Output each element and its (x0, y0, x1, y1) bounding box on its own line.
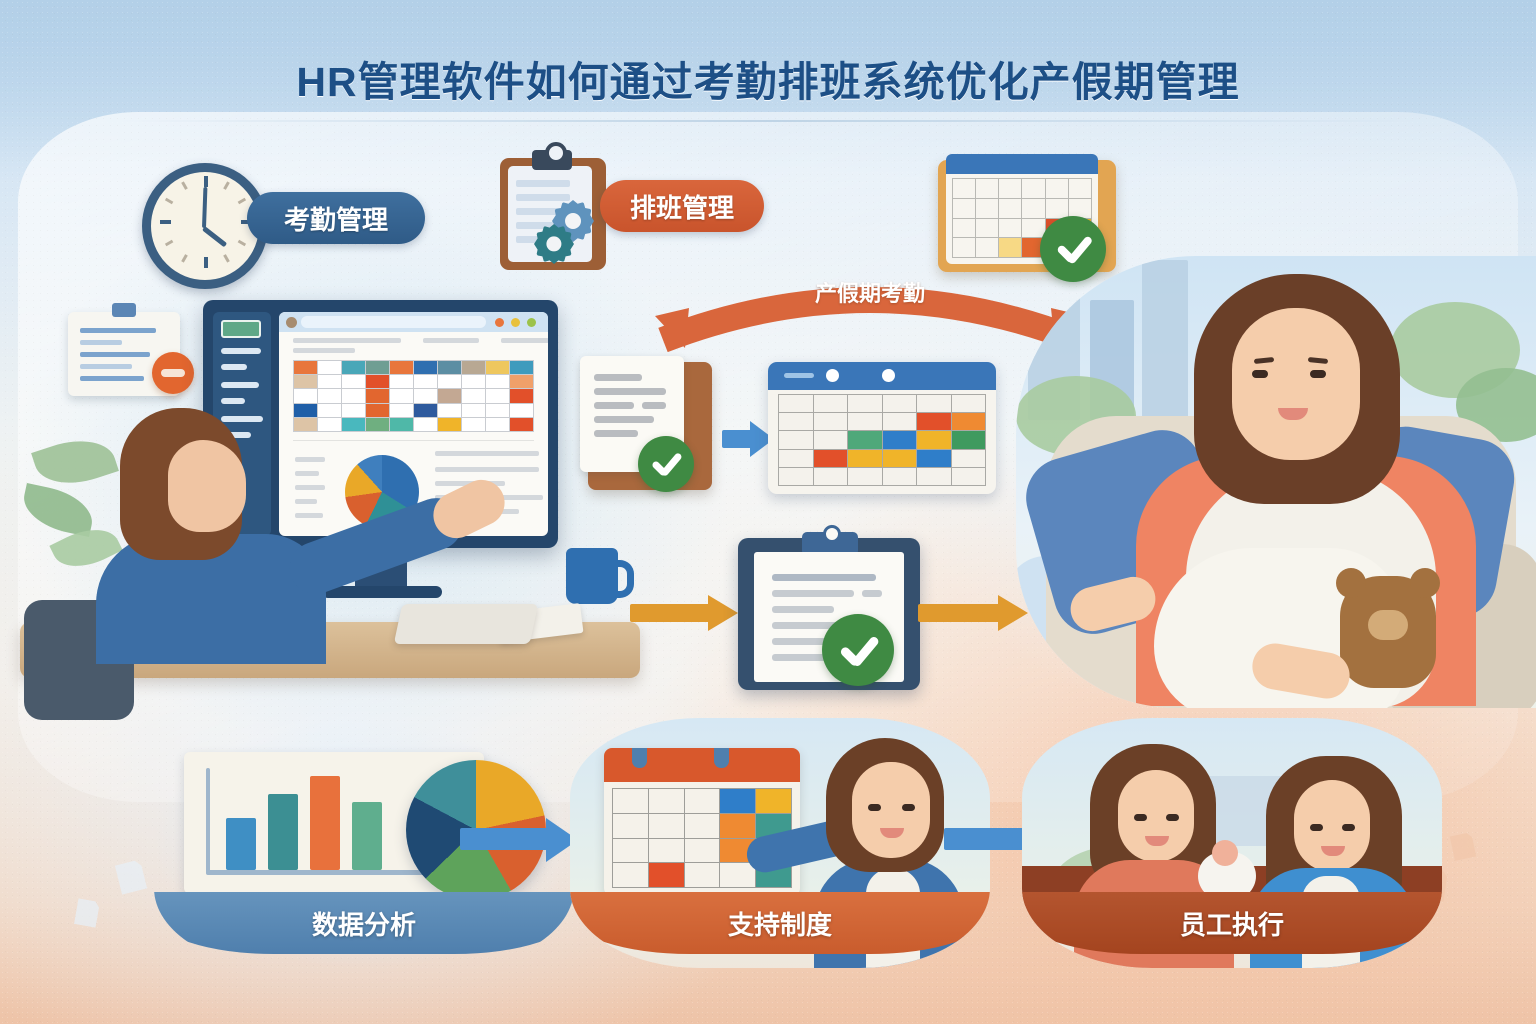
infographic-canvas: HR管理软件如何通过考勤排班系统优化产假期管理 考勤管理 排班管理 (0, 0, 1536, 1024)
check-circle-icon (822, 614, 894, 686)
clipboard-gears-icon (500, 158, 606, 270)
dashboard-header-lines (293, 338, 534, 356)
presenter-face (852, 762, 930, 858)
flow-label-banner: 支持制度 (570, 892, 990, 954)
bar-1 (226, 818, 256, 870)
flow-label-banner: 员工执行 (1022, 892, 1442, 954)
dashboard-screen (279, 312, 548, 536)
flow-label-banner: 数据分析 (154, 892, 574, 954)
maternity-scene (1016, 256, 1536, 708)
badge-attendance-management[interactable]: 考勤管理 (247, 192, 425, 244)
profile-dot (286, 317, 297, 328)
badge-label: 排班管理 (630, 188, 734, 225)
hr-staff-face (168, 440, 246, 532)
colleague-face (1294, 780, 1370, 872)
calendar-icon (768, 362, 996, 494)
hr-dashboard-monitor (203, 300, 558, 548)
browser-toolbar (279, 312, 548, 332)
bar-3 (310, 776, 340, 870)
flow-card-employee-execution[interactable]: 员工执行 (1022, 718, 1442, 968)
bar-2 (268, 794, 298, 870)
bar-4 (352, 802, 382, 870)
chart-panel (184, 752, 484, 894)
flow-label: 支持制度 (728, 905, 832, 942)
badge-shift-scheduling[interactable]: 排班管理 (600, 180, 764, 232)
page-title: HR管理软件如何通过考勤排班系统优化产假期管理 (0, 48, 1536, 108)
shift-schedule-grid[interactable] (293, 360, 534, 432)
badge-label: 考勤管理 (284, 200, 388, 237)
maternity-face (1232, 308, 1360, 460)
monitor-base (322, 586, 442, 598)
flow-card-support-policy[interactable]: 支持制度 (570, 718, 990, 968)
calendar-icon (604, 748, 800, 896)
address-bar[interactable] (301, 316, 486, 328)
flow-label: 员工执行 (1180, 905, 1284, 942)
check-circle-icon (638, 436, 694, 492)
keyboard (394, 604, 539, 644)
window-dot-min[interactable] (511, 318, 520, 327)
curved-arrow-label: 产假期考勤 (655, 276, 1085, 308)
calendar-grid[interactable] (778, 394, 986, 486)
window-dot-close[interactable] (495, 318, 504, 327)
teddy-bear-icon (1340, 576, 1436, 688)
sidebar-logo (221, 320, 261, 338)
coffee-mug (566, 548, 618, 604)
window-dot-max[interactable] (527, 318, 536, 327)
alert-badge-icon (152, 352, 194, 394)
mother-face (1118, 770, 1194, 862)
flow-label: 数据分析 (312, 905, 416, 942)
title-divider (120, 120, 1416, 122)
